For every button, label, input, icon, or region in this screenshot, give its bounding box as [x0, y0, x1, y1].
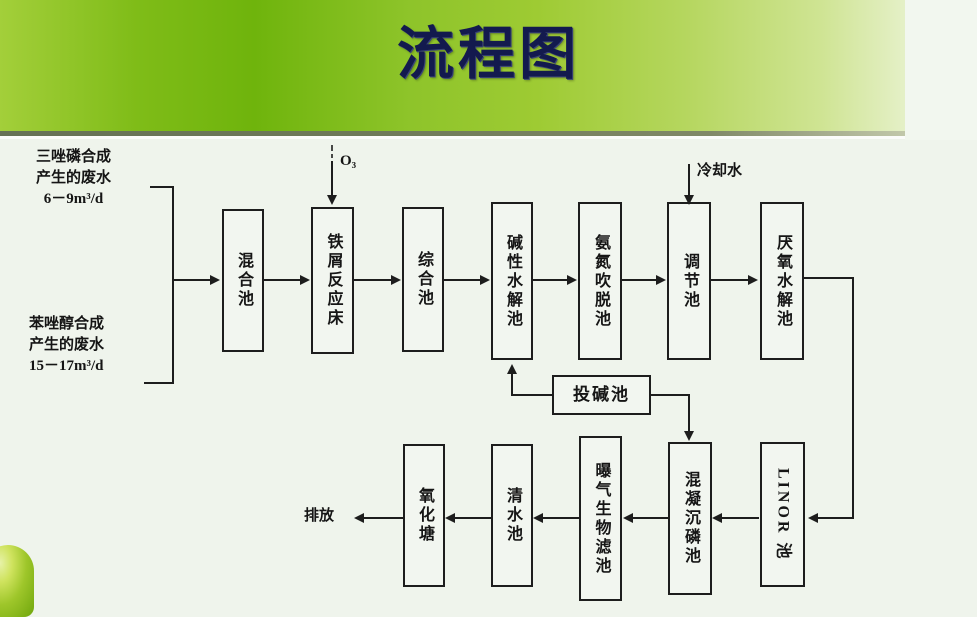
- connector-n10-n11: [543, 517, 579, 519]
- node-integrated-tank-label: 综合池: [413, 251, 433, 308]
- node-regulating-tank-label: 调节池: [679, 253, 699, 310]
- node-alkali-dosing-tank[interactable]: 投碱池: [552, 375, 651, 415]
- node-ammonia-stripping-tank-label: 氨氮吹脱池: [590, 234, 610, 329]
- connector-n7-right: [804, 277, 854, 279]
- cooling-water-label: 冷却水: [697, 161, 742, 182]
- node-ammonia-stripping-tank[interactable]: 氨氮吹脱池: [578, 202, 622, 360]
- arrowhead-discharge: [354, 513, 364, 523]
- arrowhead-cooling-water-feed: [684, 195, 694, 205]
- input-label-waste-stream-2: 苯唑醇合成 产生的废水 15－17m³/d: [29, 314, 104, 377]
- node-coagulation-phosphorus-tank[interactable]: 混凝沉磷池: [668, 442, 712, 595]
- arrowhead-n5-n6: [656, 275, 666, 285]
- discharge-label: 排放: [304, 506, 334, 527]
- arrowhead-n3-n4: [480, 275, 490, 285]
- node-clean-water-tank[interactable]: 清水池: [491, 444, 533, 587]
- page-title: 流程图: [0, 24, 977, 86]
- input-label-waste-stream-1: 三唑磷合成 产生的废水 6－9m³/d: [36, 147, 111, 210]
- node-iron-scrap-reactor-label: 铁屑反应床: [323, 233, 343, 328]
- connector-n11-n12: [455, 517, 491, 519]
- arrowhead-n11-n12: [445, 513, 455, 523]
- waste-stream-1-line2: 产生的废水: [36, 168, 111, 189]
- arrowhead-n6-n7: [748, 275, 758, 285]
- connector-input1-stub: [150, 186, 174, 188]
- connector-input-spine: [172, 186, 174, 384]
- connector-n2-n3: [354, 279, 392, 281]
- waste-stream-1-flow: 6－9m³/d: [36, 189, 111, 210]
- waste-stream-1-line1: 三唑磷合成: [36, 147, 111, 168]
- arrowhead-ozone-feed: [327, 195, 337, 205]
- connector-n8-n9: [722, 517, 759, 519]
- connector-n13-up: [511, 374, 513, 395]
- arrowhead-n8-n9: [712, 513, 722, 523]
- connector-ozone-feed-dash2: [331, 154, 333, 158]
- connector-n3-n4: [444, 279, 481, 281]
- node-aerated-biofilter-label: 曝气生物滤池: [591, 462, 611, 576]
- node-regulating-tank[interactable]: 调节池: [667, 202, 711, 360]
- connector-ozone-feed: [331, 161, 333, 197]
- arrowhead-n1-n2: [300, 275, 310, 285]
- node-iron-scrap-reactor[interactable]: 铁屑反应床: [311, 207, 354, 354]
- node-anaerobic-hydrolysis-tank-label: 厌氧水解池: [772, 234, 792, 329]
- connector-right-down: [852, 277, 854, 519]
- connector-n9-n10: [633, 517, 668, 519]
- node-oxidation-pond[interactable]: 氧化塘: [403, 444, 445, 587]
- node-coagulation-phosphorus-tank-label: 混凝沉磷池: [680, 471, 700, 566]
- node-mixing-tank-label: 混合池: [233, 252, 253, 309]
- node-alkaline-hydrolysis-tank-label: 碱性水解池: [502, 234, 522, 329]
- arrowhead-n13-to-n9: [684, 431, 694, 441]
- node-anaerobic-hydrolysis-tank[interactable]: 厌氧水解池: [760, 202, 804, 360]
- node-mixing-tank[interactable]: 混合池: [222, 209, 264, 352]
- flowchart-canvas: 三唑磷合成 产生的废水 6－9m³/d 苯唑醇合成 产生的废水 15－17m³/…: [0, 139, 977, 614]
- node-aerated-biofilter[interactable]: 曝气生物滤池: [579, 436, 622, 601]
- node-oxidation-pond-label: 氧化塘: [414, 487, 434, 544]
- arrowhead-n13-to-n4: [507, 364, 517, 374]
- connector-n4-n5: [533, 279, 568, 281]
- waste-stream-2-line2: 产生的废水: [29, 335, 104, 356]
- connector-cooling-water-feed: [688, 164, 690, 197]
- ozone-label: O₃: [340, 151, 356, 172]
- connector-input2-stub: [144, 382, 174, 384]
- connector-n1-n2: [264, 279, 301, 281]
- node-linor-tank[interactable]: LINOR 池: [760, 442, 805, 587]
- connector-input-to-n1: [172, 279, 214, 281]
- node-alkaline-hydrolysis-tank[interactable]: 碱性水解池: [491, 202, 533, 360]
- arrowhead-n4-n5: [567, 275, 577, 285]
- connector-n5-n6: [622, 279, 657, 281]
- node-integrated-tank[interactable]: 综合池: [402, 207, 444, 352]
- waste-stream-2-line1: 苯唑醇合成: [29, 314, 104, 335]
- connector-n6-n7: [711, 279, 749, 281]
- node-alkali-dosing-tank-label: 投碱池: [573, 385, 630, 405]
- connector-n12-discharge: [364, 517, 403, 519]
- connector-n13-down: [688, 394, 690, 433]
- node-linor-tank-label: LINOR 池: [773, 468, 793, 561]
- connector-ozone-feed-dash1: [331, 145, 333, 151]
- arrowhead-right-to-n8: [808, 513, 818, 523]
- connector-n13-left: [511, 394, 554, 396]
- arrowhead-input-to-n1: [210, 275, 220, 285]
- waste-stream-2-flow: 15－17m³/d: [29, 356, 104, 377]
- connector-right-to-n8: [818, 517, 854, 519]
- connector-n13-right: [650, 394, 690, 396]
- arrowhead-n9-n10: [623, 513, 633, 523]
- arrowhead-n2-n3: [391, 275, 401, 285]
- node-clean-water-tank-label: 清水池: [502, 487, 522, 544]
- arrowhead-n10-n11: [533, 513, 543, 523]
